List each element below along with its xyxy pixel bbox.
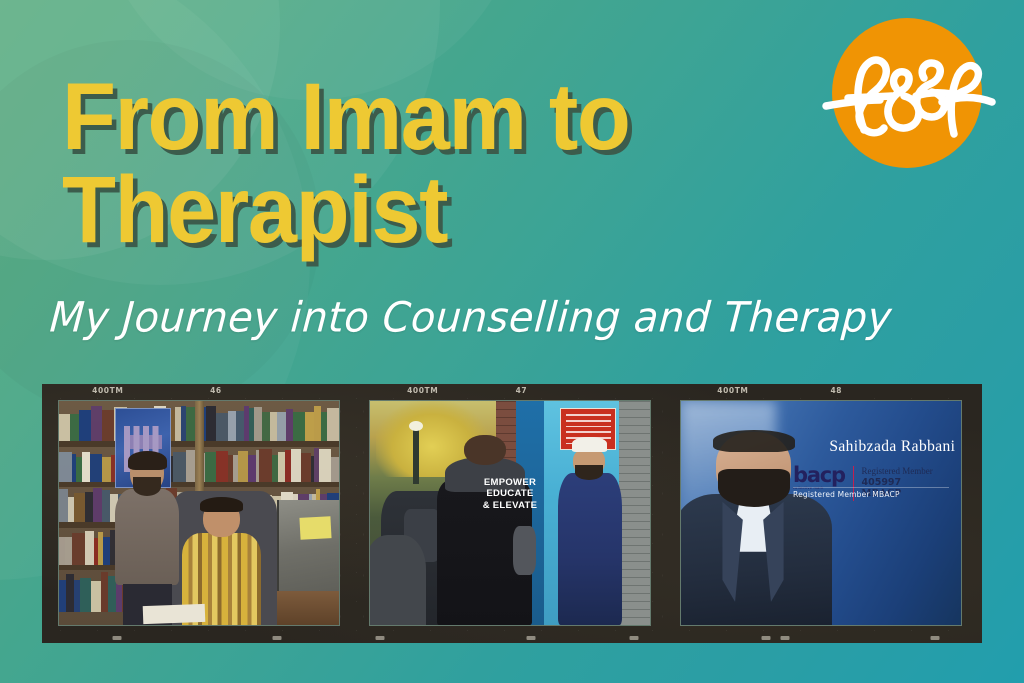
book-spine [91, 581, 101, 612]
book-spine [206, 406, 215, 441]
title-line-2: Therapist [62, 165, 750, 256]
film-sprocket [931, 636, 940, 640]
book-spine [319, 449, 331, 481]
film-sprocket [526, 636, 535, 640]
film-sprocket [761, 636, 770, 640]
book-spine [102, 457, 111, 481]
member-name: Sahibzada Rabbani [793, 439, 955, 455]
film-sprocket [376, 636, 385, 640]
film-edge-mark: 400TM [407, 386, 438, 395]
standing-man [115, 453, 179, 625]
card-footer-text: Registered Member MBACP [793, 490, 900, 499]
book-spine [59, 414, 70, 442]
book-spine [90, 454, 102, 481]
film-edge-mark: 400TM [717, 386, 748, 395]
book-spine [82, 452, 90, 481]
bacp-logo-wordmark: bacp [793, 466, 845, 485]
book-spine [66, 574, 75, 611]
subtitle: My Journey into Counselling and Therapy [48, 294, 1001, 342]
brand-logo [832, 18, 982, 168]
photo-mosque-doorway: EMPOWER EDUCATE & ELEVATE [369, 400, 651, 626]
book-spine [205, 452, 216, 482]
book-spine [80, 578, 91, 612]
registered-member-label: Registered Member [861, 466, 932, 477]
book-spine [72, 533, 84, 565]
card-horizontal-rule [793, 487, 949, 488]
grey-brick-wall [619, 401, 650, 625]
book-spine [248, 455, 256, 481]
book-spine [74, 493, 85, 522]
standing-man-hair [128, 451, 167, 470]
book-spine [79, 410, 91, 441]
book-spine [331, 457, 339, 482]
film-edge-mark: 47 [516, 386, 528, 395]
book-spine [91, 406, 102, 441]
book-spine [70, 414, 79, 441]
book-spine [216, 413, 228, 441]
seated-man-hair [200, 497, 242, 512]
book-spine [277, 412, 286, 442]
yellow-note [299, 517, 331, 541]
book-spine [103, 537, 111, 564]
logo-script-icon [818, 18, 996, 168]
book-spine [236, 411, 243, 442]
film-sprocket [273, 636, 282, 640]
film-sprocket [113, 636, 122, 640]
bacp-membership-card: Sahibzada Rabbani bacp collective mark R… [793, 439, 955, 524]
standing-man-torso [115, 489, 179, 586]
book-spine [59, 489, 68, 522]
book-spine [228, 411, 237, 441]
film-sprocket-row [42, 632, 982, 640]
book-spine [65, 537, 73, 564]
imam-figure [558, 437, 622, 625]
book-spine [327, 408, 339, 442]
portrait-hair [713, 430, 795, 451]
film-edge-mark: 400TM [92, 386, 123, 395]
book-spine [93, 488, 102, 522]
book-spine [59, 452, 72, 481]
film-sprocket [630, 636, 639, 640]
book-spine [305, 412, 314, 441]
book-spine [85, 531, 94, 564]
book-spine [102, 490, 111, 522]
student-sleeve [513, 526, 536, 576]
hoodie-slogan-text: EMPOWER EDUCATE & ELEVATE [392, 477, 627, 511]
filmstrip: 400TM46400TM47400TM48 [42, 384, 982, 643]
book-spine [314, 406, 321, 441]
book-spine [254, 407, 262, 441]
book-spine [293, 412, 306, 442]
student-head [464, 435, 506, 465]
foreground-figure [370, 535, 426, 625]
film-edge-mark: 46 [210, 386, 222, 395]
book-spine [262, 412, 270, 441]
book-spine [259, 449, 271, 481]
photo-bookshop [58, 400, 340, 626]
film-edge-mark: 48 [830, 386, 842, 395]
photo-bacp-card: Sahibzada Rabbani bacp collective mark R… [680, 400, 962, 626]
page-title: From Imam to Therapist [62, 72, 802, 256]
book-spine [301, 453, 310, 482]
book-spine [102, 410, 114, 442]
film-edge-markings: 400TM46400TM47400TM48 [42, 384, 982, 400]
book-spine [85, 492, 92, 522]
desk-paper [143, 604, 205, 624]
title-line-1: From Imam to [62, 72, 750, 163]
imam-prayer-cap [572, 437, 607, 452]
student-figure [437, 435, 532, 625]
film-sprocket [780, 636, 789, 640]
book-spine [291, 449, 302, 482]
promo-banner: From Imam to Therapist My Journey into C… [0, 0, 1024, 683]
street-lamp [409, 421, 423, 484]
book-spine [216, 451, 228, 482]
book-spine [270, 412, 277, 441]
standing-man-beard [133, 477, 161, 496]
book-spine [59, 580, 66, 612]
book-spine [238, 451, 248, 482]
book-spine [101, 572, 109, 611]
book-spine [272, 455, 279, 482]
